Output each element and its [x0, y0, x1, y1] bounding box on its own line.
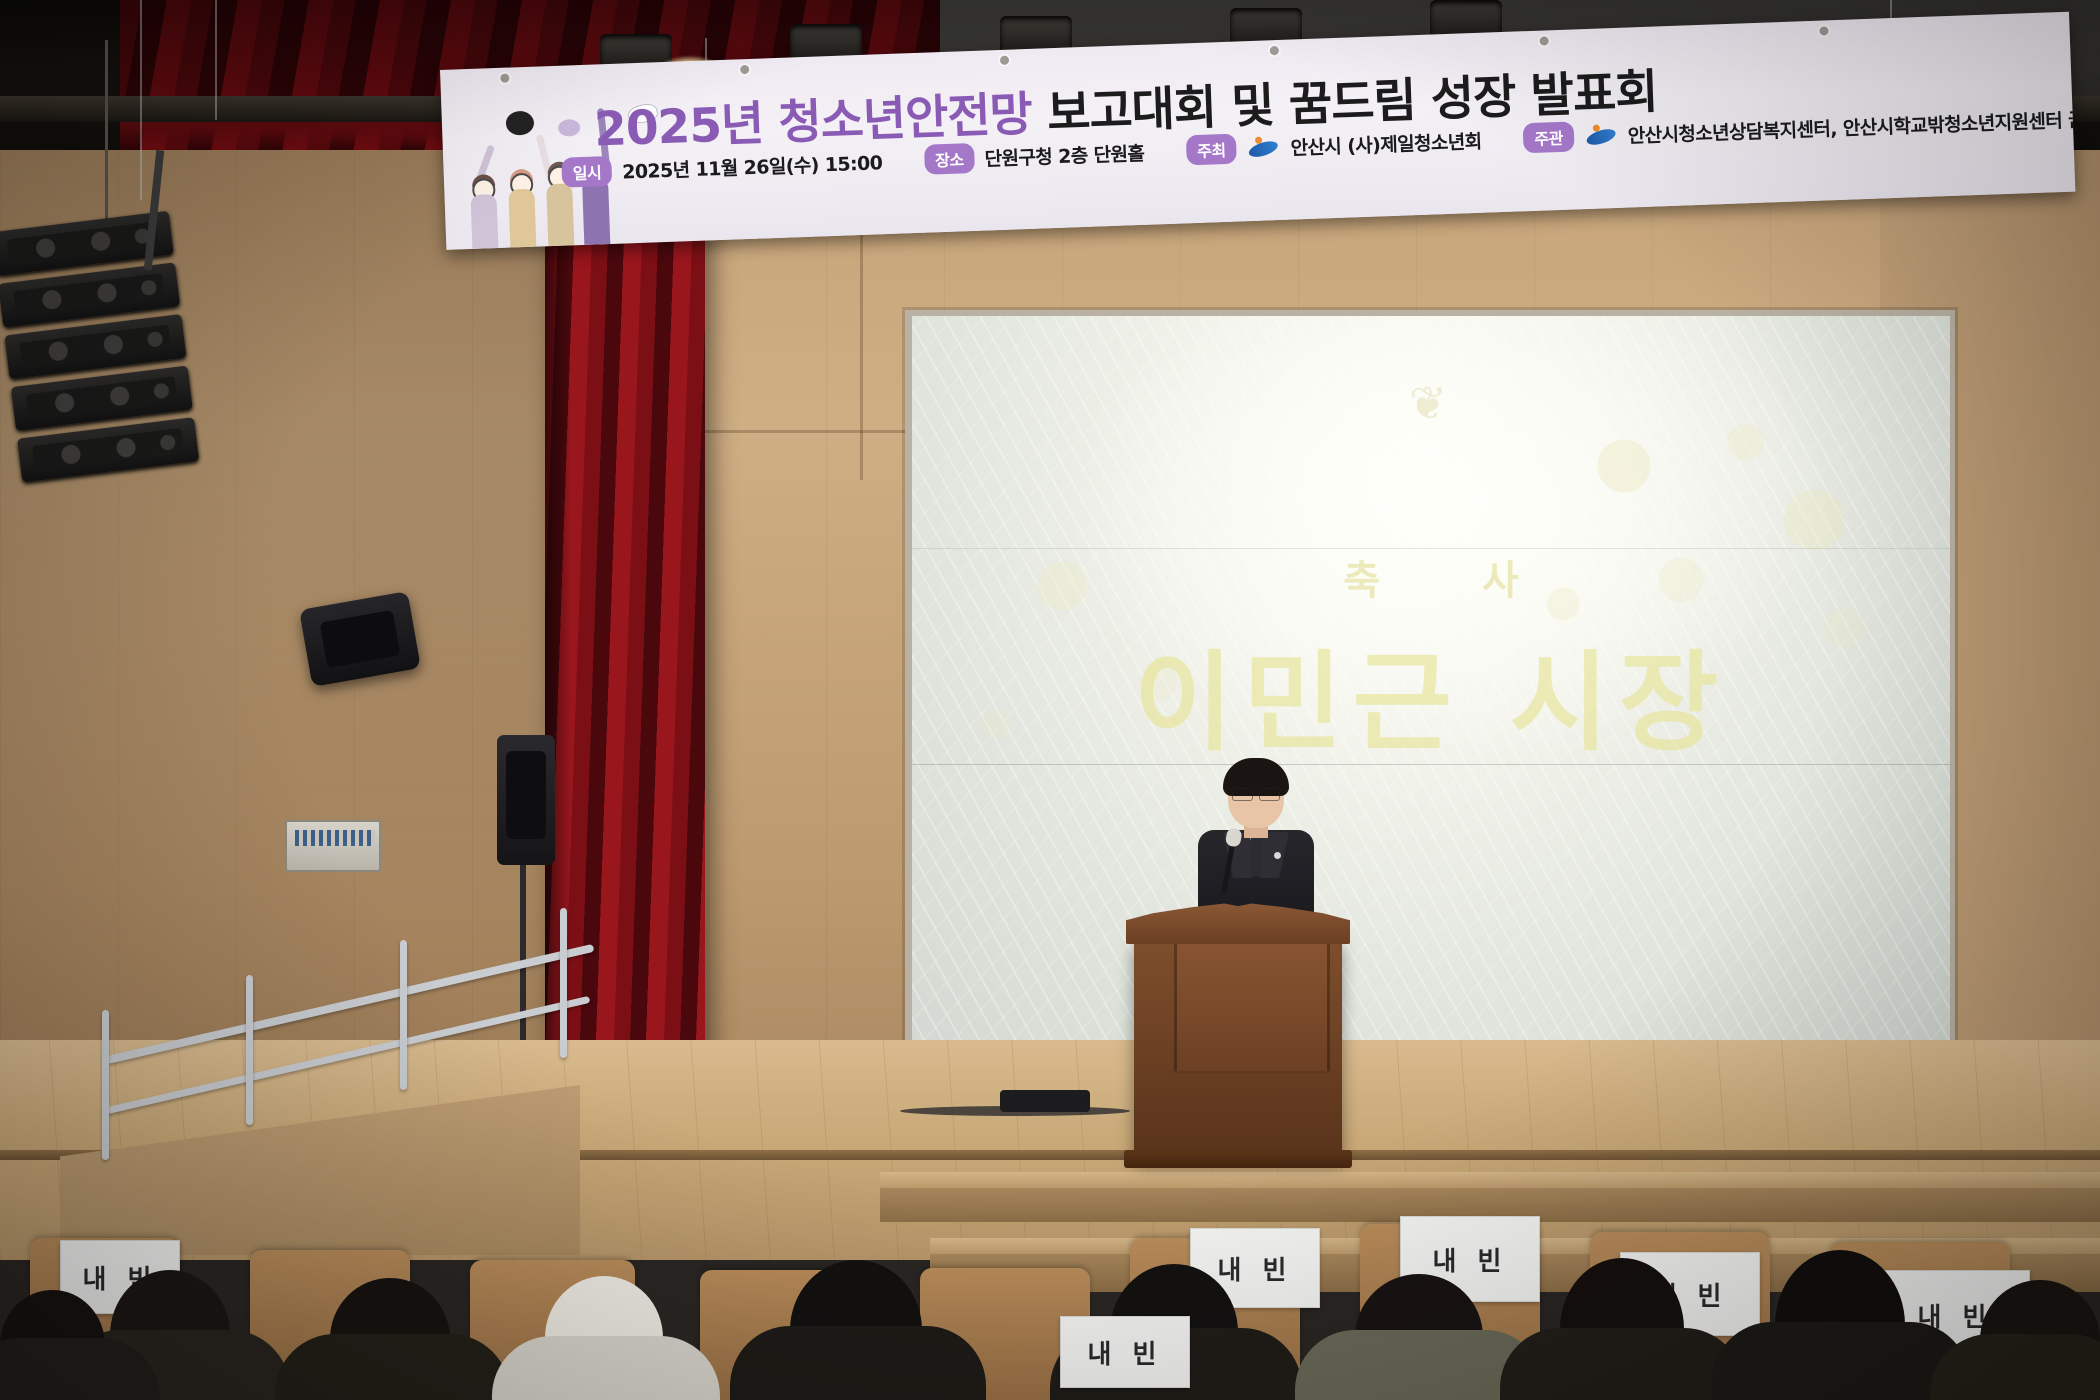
slide-speaker-name: 이민근 시장 [912, 616, 1950, 772]
banner-pill-date: 일시 [561, 156, 612, 188]
hanging-wire [215, 0, 217, 120]
audience-shoulders [1500, 1328, 1744, 1400]
handrail-post [400, 940, 407, 1090]
floor-speaker [497, 735, 555, 865]
banner-pill-host: 주최 [1186, 134, 1237, 166]
banner-date-text: 2025년 11월 26일(수) 15:00 [622, 148, 883, 184]
chair-name-card: 내 빈 [1060, 1316, 1190, 1388]
rigging-wire [105, 40, 108, 230]
screen-crease [912, 548, 1950, 549]
banner-place-text: 단원구청 2층 단원홀 [984, 138, 1145, 171]
banner-pill-organizer: 주관 [1523, 121, 1574, 153]
wall-control-panel [285, 820, 381, 872]
wall-seam [700, 430, 910, 433]
handrail-post [560, 908, 567, 1058]
hanging-wire [140, 0, 142, 200]
ansan-city-logo-icon [1246, 138, 1281, 157]
audience-shoulders [275, 1334, 510, 1400]
curtain-shadow [545, 150, 571, 1120]
lapel-badge-icon [1274, 852, 1281, 859]
auditorium-photo: ❦ 축 사 이민근 시장 [0, 0, 2100, 1400]
audience-shoulders [730, 1326, 986, 1400]
floor-equipment-case [1000, 1090, 1090, 1112]
slide-heading: 축 사 [912, 548, 1950, 606]
screen-crease [912, 764, 1950, 765]
handrail-post [246, 975, 253, 1125]
banner-organizer-text: 안산시청소년상담복지센터, 안산시학교밖청소년지원센터 꿈드림 [1627, 103, 2075, 148]
audience-foreground: 내 빈 내 빈 내 빈 내 빈 내 빈 [0, 1120, 2100, 1400]
organizer-logo-icon [1583, 126, 1618, 145]
audience-shoulders [492, 1336, 720, 1400]
banner-host-text: 안산시 (사)제일청소년회 [1290, 126, 1482, 160]
slide-ornament-icon: ❦ [1409, 376, 1454, 430]
audience-shoulders [1930, 1334, 2100, 1400]
line-array-speaker [0, 210, 213, 540]
projection-screen: ❦ 축 사 이민근 시장 [912, 316, 1950, 1086]
eyeglasses-icon [1232, 788, 1280, 799]
speaker-at-podium [1196, 764, 1316, 914]
banner-pill-place: 장소 [924, 143, 975, 175]
